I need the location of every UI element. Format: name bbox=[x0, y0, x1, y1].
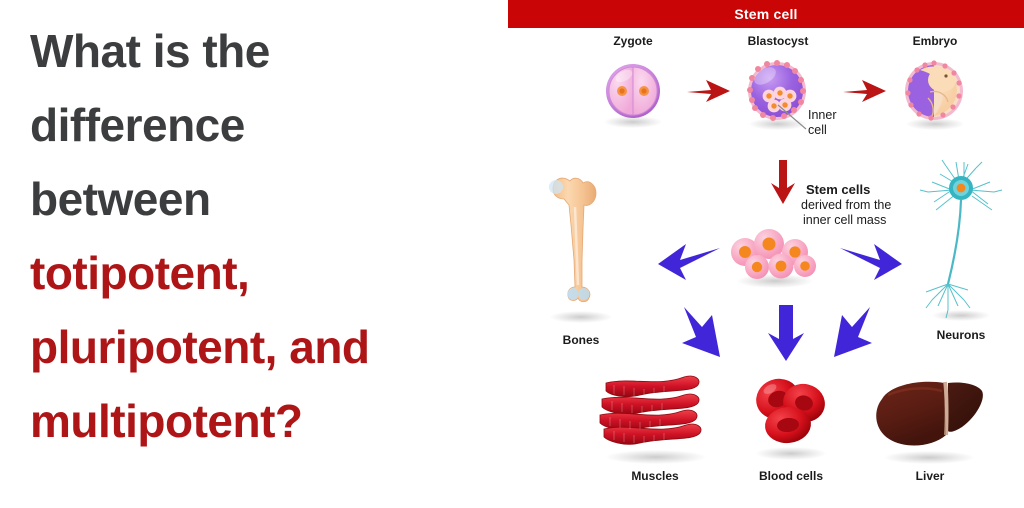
infographic-page: What is the difference between totipoten… bbox=[0, 0, 1024, 508]
embryo-icon bbox=[890, 34, 980, 134]
neurons-label: Neurons bbox=[881, 328, 1024, 342]
headline-line-4: totipotent, bbox=[30, 236, 500, 310]
stem-cell-cluster-icon bbox=[723, 222, 833, 292]
blue-arrow-down-icon bbox=[766, 303, 806, 365]
bone-icon bbox=[526, 165, 636, 325]
bones-label: Bones bbox=[501, 333, 661, 347]
headline-line-5: pluripotent, and bbox=[30, 310, 500, 384]
inner-cell-callout-line1: Inner bbox=[808, 108, 837, 123]
blood-cells-node: Blood cells bbox=[736, 365, 846, 495]
stem-cell-cluster-node bbox=[723, 222, 833, 292]
liver-icon bbox=[860, 365, 1000, 465]
blood-cells-label: Blood cells bbox=[711, 469, 871, 483]
diagram-title-bar: Stem cell bbox=[508, 0, 1024, 28]
embryo-node: Embryo bbox=[890, 34, 980, 134]
red-arrow-down-icon bbox=[769, 158, 797, 206]
zygote-node: Zygote bbox=[588, 34, 678, 134]
stem-cells-caption-line1: derived from the bbox=[801, 198, 891, 213]
headline-panel: What is the difference between totipoten… bbox=[0, 0, 500, 508]
liver-label: Liver bbox=[850, 469, 1010, 483]
blue-arrow-right-icon bbox=[838, 240, 904, 282]
headline-line-3: between bbox=[30, 162, 500, 236]
stem-cells-caption-title: Stem cells bbox=[806, 182, 870, 197]
inner-cell-callout-line2: cell bbox=[808, 123, 837, 138]
blue-arrow-left-icon bbox=[656, 240, 722, 282]
blue-arrow-down-left-icon bbox=[678, 305, 728, 365]
muscle-fibers-icon bbox=[580, 365, 730, 465]
red-arrow-right-icon-1 bbox=[685, 78, 733, 104]
inner-cell-callout: Inner cell bbox=[808, 108, 837, 138]
red-blood-cells-icon bbox=[736, 365, 846, 465]
red-arrow-right-icon-2 bbox=[841, 78, 889, 104]
headline-line-2: difference bbox=[30, 88, 500, 162]
blue-arrow-down-right-icon bbox=[826, 305, 876, 365]
headline-line-1: What is the bbox=[30, 14, 500, 88]
liver-node: Liver bbox=[860, 365, 1000, 495]
stem-cell-diagram: Stem cell Zygote bbox=[508, 0, 1024, 508]
neuron-icon bbox=[906, 160, 1016, 320]
bones-node: Bones bbox=[526, 165, 636, 355]
zygote-cell-icon bbox=[588, 34, 678, 134]
headline-line-6: multipotent? bbox=[30, 384, 500, 458]
diagram-title: Stem cell bbox=[734, 6, 797, 22]
neurons-node: Neurons bbox=[906, 160, 1016, 355]
muscles-node: Muscles bbox=[580, 365, 730, 495]
